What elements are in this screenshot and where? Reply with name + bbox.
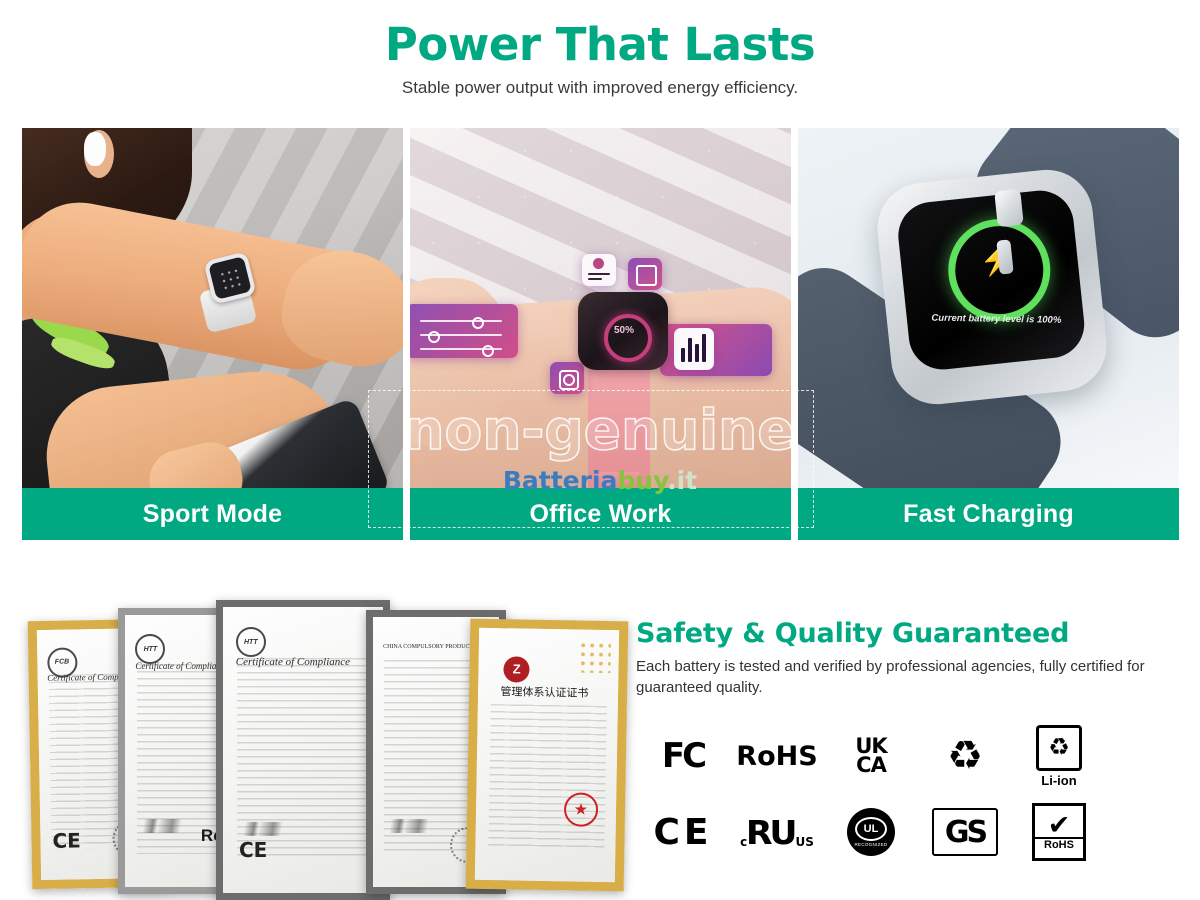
cert-logo-htt: HTT — [236, 627, 266, 657]
certificate-silver-ce: HTT Certificate of Compliance CE — [216, 600, 390, 900]
certification-badges: FC RoHS UK CA ♻ ♻ Li-ion — [636, 718, 1106, 870]
panel-caption-office-work: Office Work — [410, 488, 791, 540]
li-ion-recycle-icon: ♻ Li-ion — [1012, 721, 1106, 791]
page-title: Power That Lasts — [0, 0, 1200, 71]
feature-panel-office-work[interactable]: 50% Office Work — [410, 128, 791, 540]
badge-row-1: FC RoHS UK CA ♻ ♻ Li-ion — [636, 718, 1106, 794]
fcc-icon: FC — [636, 721, 730, 791]
c-ru-us-icon: c RU US — [730, 797, 824, 867]
watch-battery-value: 50% — [604, 325, 644, 336]
ukca-icon: UK CA — [824, 721, 918, 791]
cert-mark-ce: CE — [52, 828, 81, 852]
app-card-camera — [550, 362, 584, 394]
page-subtitle: Stable power output with improved energy… — [0, 71, 1200, 98]
gs-icon: GS — [918, 797, 1012, 867]
rohs-icon: RoHS — [730, 721, 824, 791]
badge-row-2: CE c RU US UL RECOGNIZED GS — [636, 794, 1106, 870]
page-header: Power That Lasts Stable power output wit… — [0, 0, 1200, 118]
safety-heading: Safety & Quality Guaranteed — [636, 618, 1176, 649]
office-work-image: 50% — [410, 128, 791, 488]
safety-quality-block: Safety & Quality Guaranteed Each battery… — [636, 618, 1176, 699]
feature-panel-fast-charging[interactable]: ⚡ Current battery level is 100% Fast Cha… — [798, 128, 1179, 540]
panel-caption-sport-mode: Sport Mode — [22, 488, 403, 540]
rohs-check-icon: ✔ RoHS — [1012, 797, 1106, 867]
cert-title: 管理体系认证证书 — [500, 684, 609, 702]
ul-recognized-icon: UL RECOGNIZED — [824, 797, 918, 867]
fast-charging-image: ⚡ Current battery level is 100% — [798, 128, 1179, 488]
app-card-chart — [674, 328, 714, 370]
marketing-infographic-page: Power That Lasts Stable power output wit… — [0, 0, 1200, 900]
app-card-contact — [582, 254, 616, 286]
cert-mark-ce: CE — [239, 838, 267, 862]
sport-mode-image — [22, 128, 403, 488]
app-card-checklist — [628, 258, 662, 290]
certificates-collage: FCB Certificate of Compliance CE HTT Cer… — [18, 598, 618, 888]
cert-red-seal: ★ — [564, 792, 599, 827]
digital-crown-shape — [994, 189, 1024, 228]
app-card-sliders — [410, 304, 518, 358]
feature-panels: Sport Mode — [22, 128, 1180, 540]
pink-smartwatch-shape: 50% — [578, 292, 668, 370]
recycle-icon: ♻ — [918, 721, 1012, 791]
earbud-shape — [84, 132, 106, 166]
silver-smartwatch-shape: ⚡ Current battery level is 100% — [873, 165, 1111, 408]
safety-body: Each battery is tested and verified by p… — [636, 656, 1176, 699]
certificate-gold-right: Z 管理体系认证证书 ★ — [466, 619, 629, 892]
panel-caption-fast-charging: Fast Charging — [798, 488, 1179, 540]
feature-panel-sport-mode[interactable]: Sport Mode — [22, 128, 403, 540]
battery-level-text: Current battery level is 100% — [915, 312, 1077, 326]
ce-icon: CE — [636, 797, 730, 867]
bottom-section: FCB Certificate of Compliance CE HTT Cer… — [0, 570, 1200, 900]
